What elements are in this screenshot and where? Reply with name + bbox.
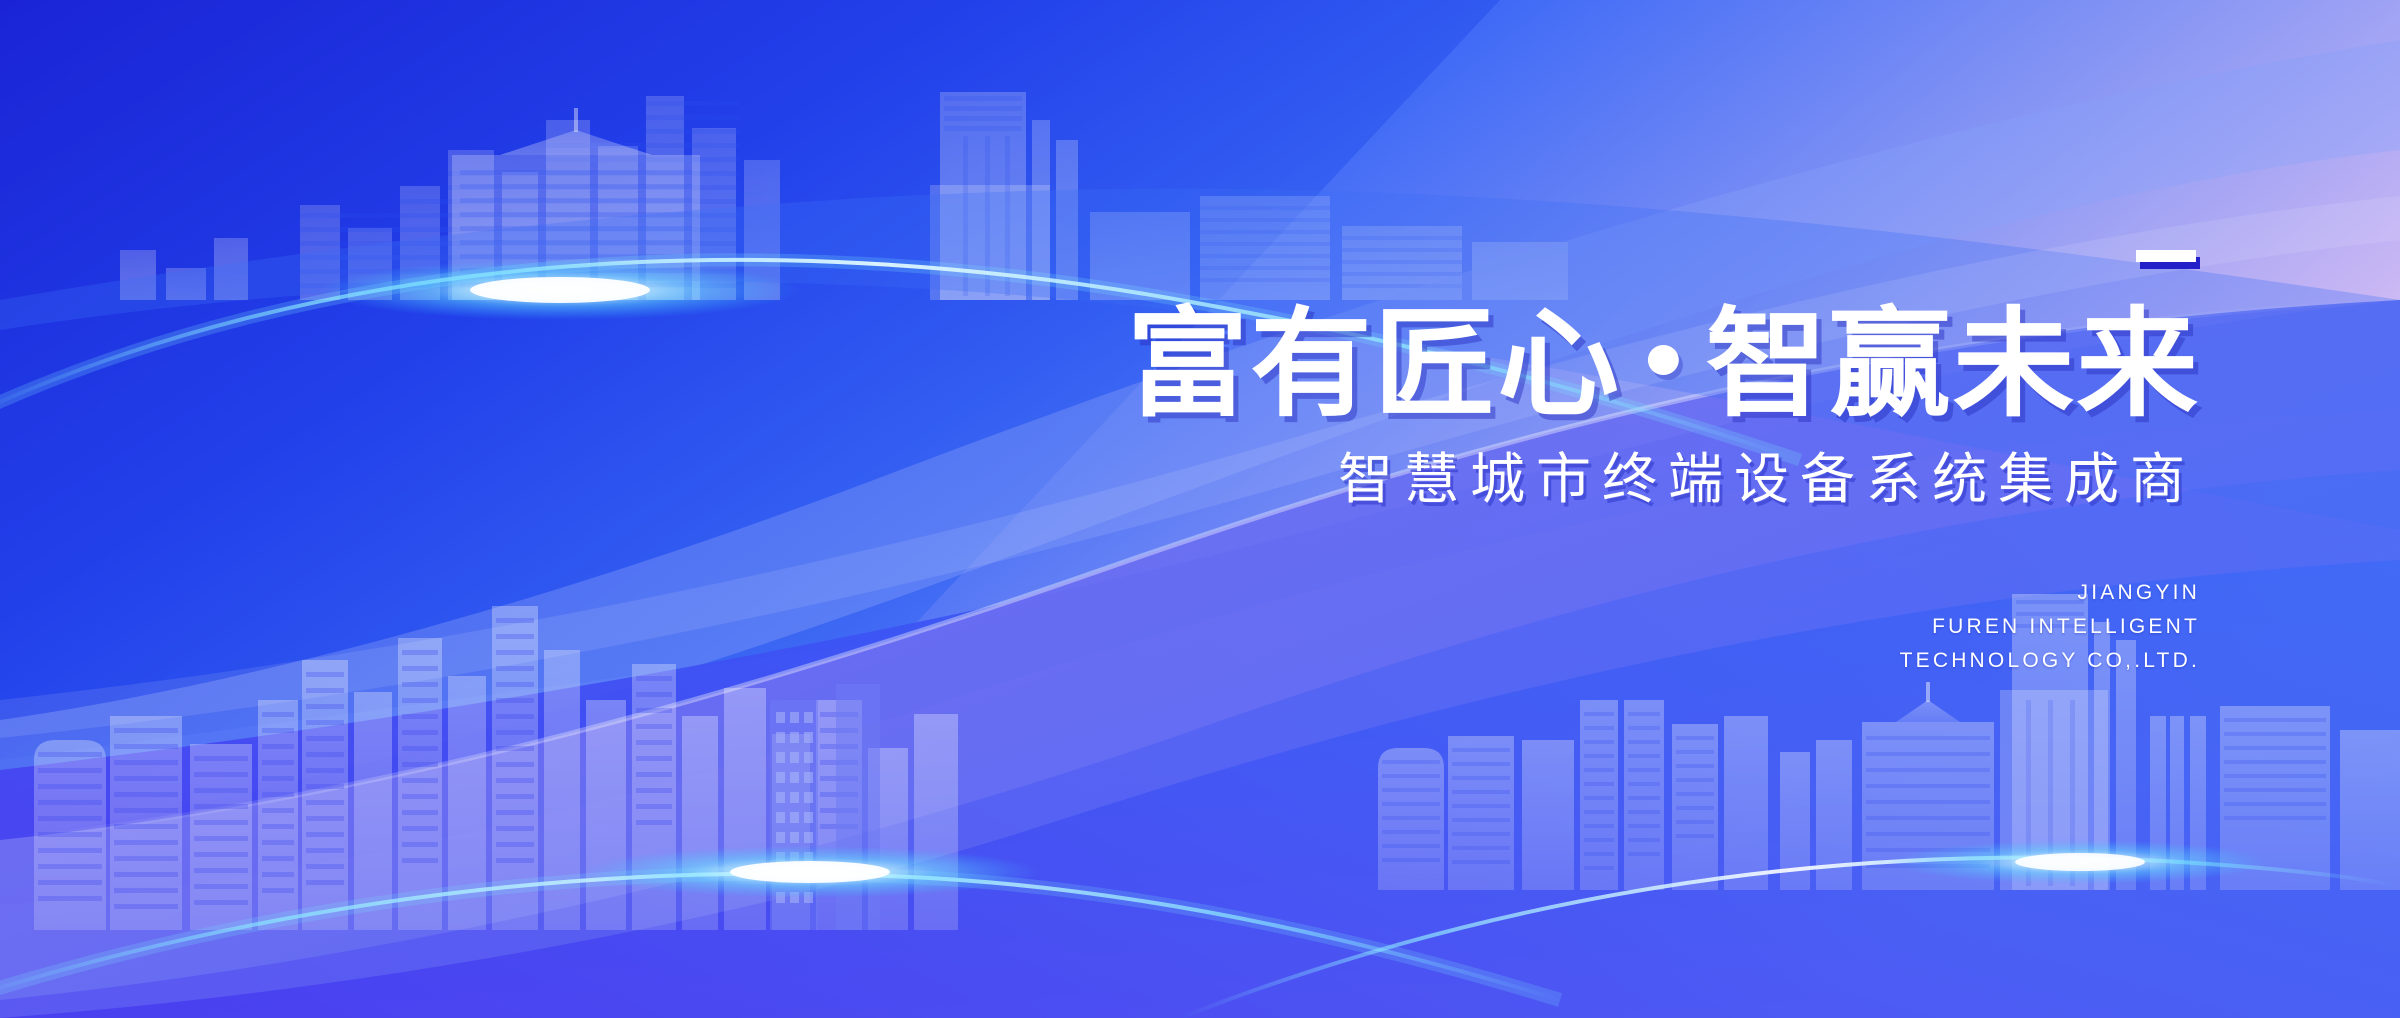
- glow-arc-lower: [0, 846, 1560, 1000]
- glow-arc-upper: [0, 260, 1800, 460]
- glow-arc-right: [1180, 840, 2400, 1018]
- banner-canvas: 富有匠心智赢未来 智慧城市终端设备系统集成商 JIANGYIN FUREN IN…: [0, 0, 2400, 1018]
- glow-arcs: [0, 0, 2400, 1018]
